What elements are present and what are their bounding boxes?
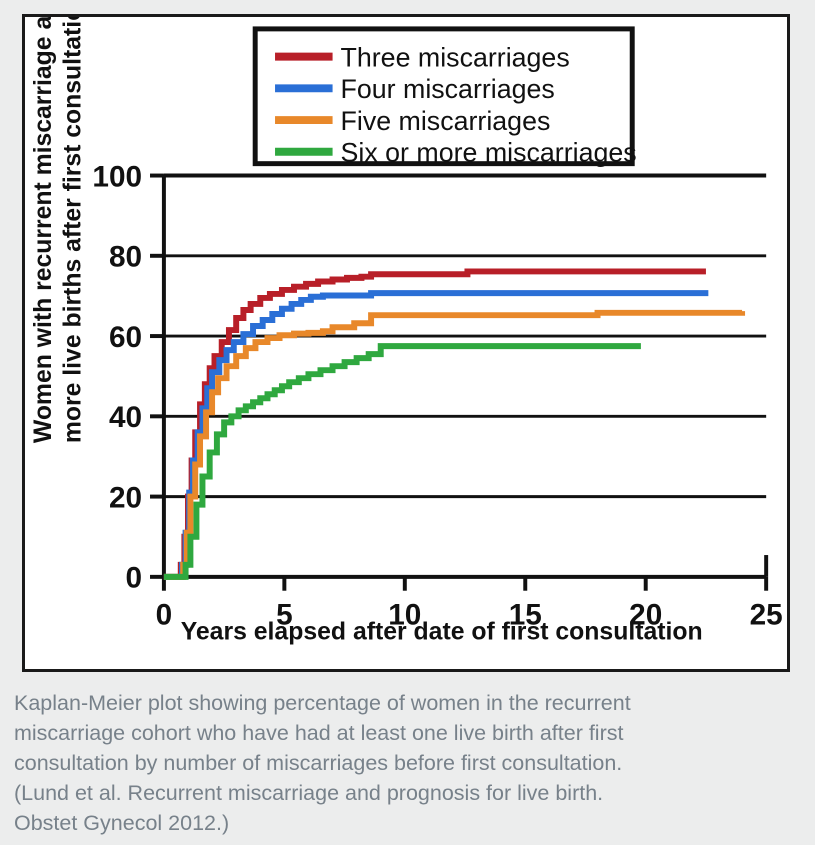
chart-panel: 020406080100 0510152025 Women with recur…: [22, 14, 790, 672]
y-axis-tick-labels: 020406080100: [92, 160, 163, 594]
caption-line-5: Obstet Gynecol 2012.): [14, 808, 804, 838]
y-axis-title-line2: more live births after first consultatio…: [60, 17, 87, 443]
figure-page: 020406080100 0510152025 Women with recur…: [0, 0, 815, 845]
x-tick-label: 25: [750, 598, 783, 631]
data-series-curves: [164, 271, 742, 576]
caption-line-3: consultation by number of miscarriages b…: [14, 748, 804, 778]
x-tick-label: 0: [156, 598, 173, 631]
legend-label-0: Three miscarriages: [341, 43, 570, 73]
series-line-2: [164, 311, 742, 577]
series-line-3: [164, 346, 641, 577]
y-tick-label: 0: [126, 562, 143, 595]
legend-label-3: Six or more miscarriages: [341, 138, 637, 168]
legend-label-2: Five miscarriages: [341, 106, 551, 136]
caption-line-4: (Lund et al. Recurrent miscarriage and p…: [14, 778, 804, 808]
caption-line-2: miscarriage cohort who have had at least…: [14, 718, 804, 748]
chart-plot-area: 020406080100 0510152025: [92, 160, 782, 631]
legend-label-1: Four miscarriages: [341, 74, 555, 104]
y-axis-title: Women with recurrent miscarriage and one…: [30, 17, 87, 443]
caption-line-1: Kaplan-Meier plot showing percentage of …: [14, 688, 804, 718]
figure-caption: Kaplan-Meier plot showing percentage of …: [14, 688, 804, 838]
chart-legend: Three miscarriagesFour miscarriagesFive …: [255, 29, 637, 168]
y-tick-label: 60: [109, 321, 142, 354]
y-tick-label: 20: [109, 482, 142, 515]
x-axis-title: Years elapsed after date of first consul…: [181, 618, 703, 645]
y-tick-label: 80: [109, 241, 142, 274]
x-axis-ticks: [164, 577, 766, 591]
y-axis-title-line1: Women with recurrent miscarriage and one…: [30, 17, 57, 443]
chart-axes: [164, 175, 766, 577]
kaplan-meier-chart: 020406080100 0510152025 Women with recur…: [25, 17, 787, 669]
y-tick-label: 40: [109, 401, 142, 434]
y-tick-label: 100: [92, 160, 142, 193]
